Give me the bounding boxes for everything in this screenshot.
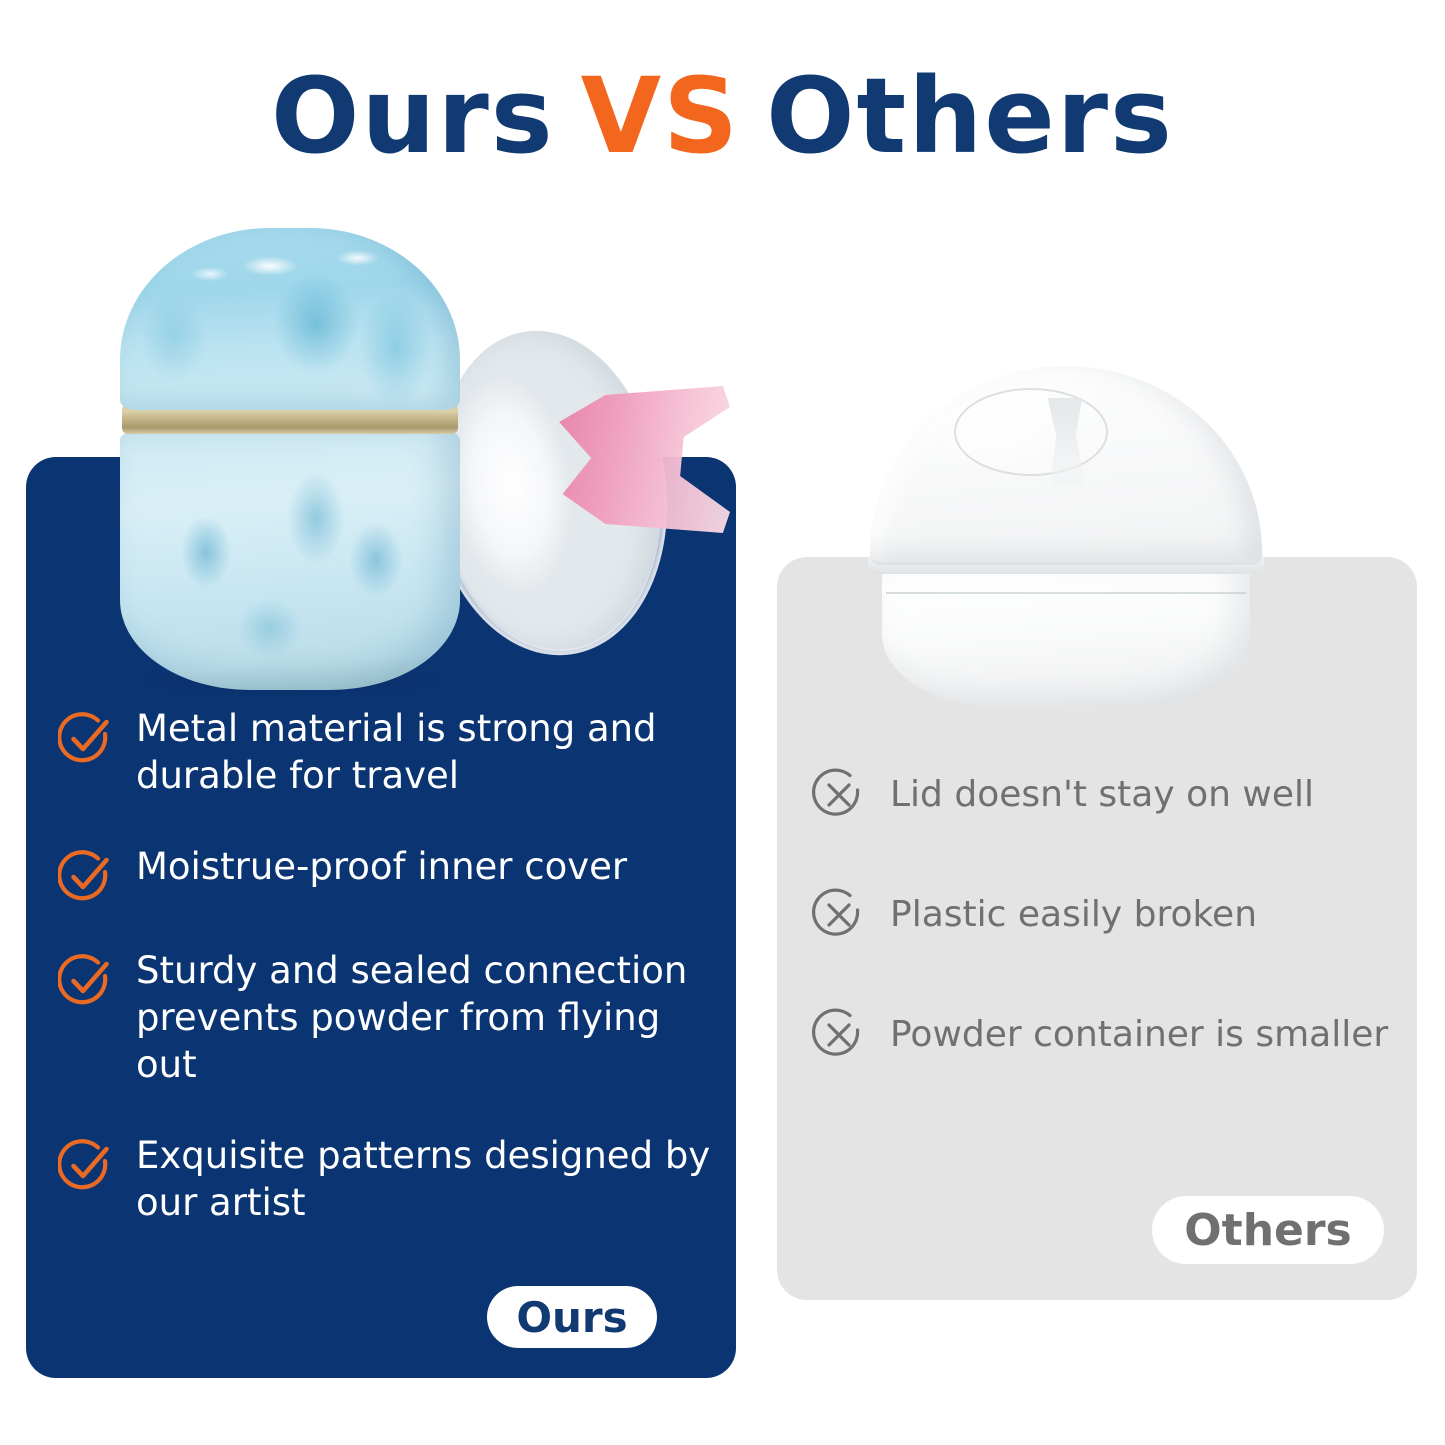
list-item: Plastic easily broken bbox=[812, 888, 1412, 942]
title-word-vs: VS bbox=[581, 55, 740, 177]
list-item-label: Powder container is smaller bbox=[890, 1013, 1388, 1056]
x-circle-icon bbox=[812, 768, 866, 822]
plastic-base bbox=[882, 566, 1250, 708]
ours-product-image bbox=[120, 228, 720, 688]
list-item: Moistrue-proof inner cover bbox=[58, 844, 718, 904]
check-circle-icon bbox=[58, 710, 114, 766]
check-circle-icon bbox=[58, 952, 114, 1008]
x-circle-icon bbox=[812, 1008, 866, 1062]
list-item: Powder container is smaller bbox=[812, 1008, 1412, 1062]
x-circle-icon bbox=[812, 888, 866, 942]
others-drawback-list: Lid doesn't stay on well Plastic easily … bbox=[812, 768, 1412, 1062]
check-circle-icon bbox=[58, 1137, 114, 1193]
ours-badge: Ours bbox=[487, 1286, 657, 1348]
list-item-label: Moistrue-proof inner cover bbox=[136, 844, 627, 891]
check-circle-icon bbox=[58, 848, 114, 904]
list-item-label: Metal material is strong and durable for… bbox=[136, 706, 718, 800]
title-word-others: Others bbox=[766, 55, 1174, 177]
list-item: Lid doesn't stay on well bbox=[812, 768, 1412, 822]
tin-body bbox=[120, 432, 460, 690]
tin-lid bbox=[120, 228, 460, 410]
comparison-infographic: OursVSOthers Metal material is strong an… bbox=[0, 0, 1445, 1445]
title-word-ours: Ours bbox=[271, 55, 555, 177]
page-title: OursVSOthers bbox=[0, 62, 1445, 171]
list-item: Sturdy and sealed connection prevents po… bbox=[58, 948, 718, 1089]
list-item-label: Exquisite patterns designed by our artis… bbox=[136, 1133, 718, 1227]
plastic-dome-ring bbox=[954, 388, 1108, 476]
plastic-base-seam bbox=[886, 592, 1246, 594]
others-badge: Others bbox=[1152, 1196, 1384, 1264]
list-item: Metal material is strong and durable for… bbox=[58, 706, 718, 800]
list-item: Exquisite patterns designed by our artis… bbox=[58, 1133, 718, 1227]
list-item-label: Plastic easily broken bbox=[890, 893, 1257, 936]
list-item-label: Lid doesn't stay on well bbox=[890, 773, 1314, 816]
ours-feature-list: Metal material is strong and durable for… bbox=[58, 706, 718, 1227]
others-product-image bbox=[856, 366, 1276, 716]
list-item-label: Sturdy and sealed connection prevents po… bbox=[136, 948, 718, 1089]
